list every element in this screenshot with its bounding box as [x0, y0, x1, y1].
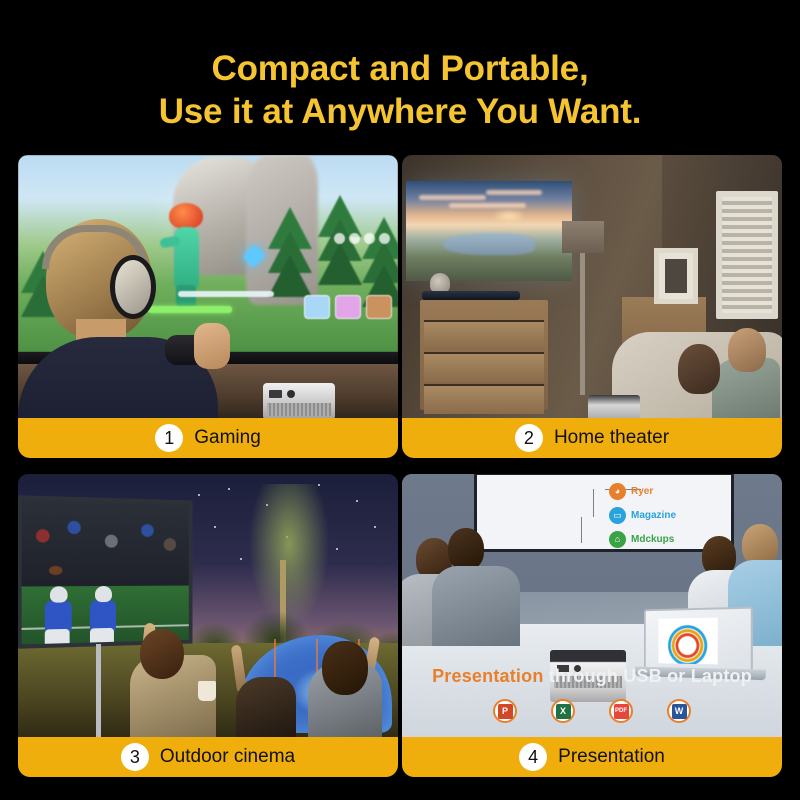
- page-title: Compact and Portable, Use it at Anywhere…: [0, 48, 800, 133]
- card-label: Presentation: [558, 746, 665, 768]
- person-viewer-2: [236, 677, 296, 739]
- card-number-badge: 3: [121, 743, 149, 771]
- legend-label: Ryer: [631, 486, 653, 497]
- word-icon: W: [667, 699, 691, 723]
- use-case-card-outdoor-cinema[interactable]: 3 Outdoor cinema: [18, 474, 398, 777]
- powerpoint-icon: P: [493, 699, 517, 723]
- legend-item: ◕ Ryer: [609, 479, 725, 503]
- label-bar-outdoor-cinema[interactable]: 3 Outdoor cinema: [18, 737, 398, 777]
- use-case-card-gaming[interactable]: 1 Gaming: [18, 155, 398, 458]
- clock-icon: ◕: [609, 483, 626, 500]
- card-number-badge: 1: [155, 424, 183, 452]
- file-type-icons: P X PDF W: [402, 699, 782, 723]
- promo-page: Compact and Portable, Use it at Anywhere…: [0, 0, 800, 800]
- card-number-badge: 4: [519, 743, 547, 771]
- monitor-icon: ▭: [609, 507, 626, 524]
- legend-item: ▭ Magazine: [609, 503, 725, 527]
- person-gamer: [24, 219, 214, 420]
- card-label: Gaming: [194, 427, 261, 449]
- outdoor-cinema-photo: [18, 474, 398, 739]
- presentation-photo: ◕ Ryer ▭ Magazine ⌂ Mdckups: [402, 474, 782, 739]
- pdf-icon: PDF: [609, 699, 633, 723]
- window-blinds: [716, 191, 778, 319]
- projector-beam: [256, 325, 348, 389]
- legend-label: Mdckups: [631, 534, 674, 545]
- dresser: [420, 300, 548, 410]
- excel-icon: X: [551, 699, 575, 723]
- projector-device: [263, 383, 335, 420]
- use-case-card-presentation[interactable]: ◕ Ryer ▭ Magazine ⌂ Mdckups: [402, 474, 782, 777]
- person-viewer-3: [308, 663, 382, 739]
- wall-picture-frame: [654, 248, 698, 304]
- projector-beam: [528, 556, 650, 654]
- caption-highlight: Presentation: [432, 666, 543, 686]
- projector-device: [588, 395, 640, 420]
- outdoor-screen: [18, 495, 193, 648]
- card-number-badge: 2: [515, 424, 543, 452]
- presentation-caption: Presentation through USB or Laptop: [402, 666, 782, 687]
- home-icon: ⌂: [609, 531, 626, 548]
- label-bar-home-theater[interactable]: 2 Home theater: [402, 418, 782, 458]
- label-bar-presentation[interactable]: 4 Presentation: [402, 737, 782, 777]
- projected-landscape: [406, 181, 572, 281]
- gaming-photo: [18, 155, 398, 420]
- person-viewer-2: [728, 328, 766, 372]
- card-label: Home theater: [554, 427, 669, 449]
- soundbar: [422, 291, 520, 300]
- headline-line-1: Compact and Portable,: [212, 49, 589, 88]
- label-bar-gaming[interactable]: 1 Gaming: [18, 418, 398, 458]
- person-viewer-1: [678, 344, 720, 394]
- caption-rest: through USB or Laptop: [544, 666, 752, 686]
- laptop: [644, 607, 753, 672]
- headline-line-2: Use it at Anywhere You Want.: [0, 91, 800, 134]
- use-case-card-home-theater[interactable]: 2 Home theater: [402, 155, 782, 458]
- card-label: Outdoor cinema: [160, 746, 295, 768]
- home-theater-photo: [402, 155, 782, 420]
- legend-label: Magazine: [631, 510, 676, 521]
- use-case-grid: 1 Gaming: [18, 155, 782, 777]
- projected-slide: ◕ Ryer ▭ Magazine ⌂ Mdckups: [474, 474, 734, 552]
